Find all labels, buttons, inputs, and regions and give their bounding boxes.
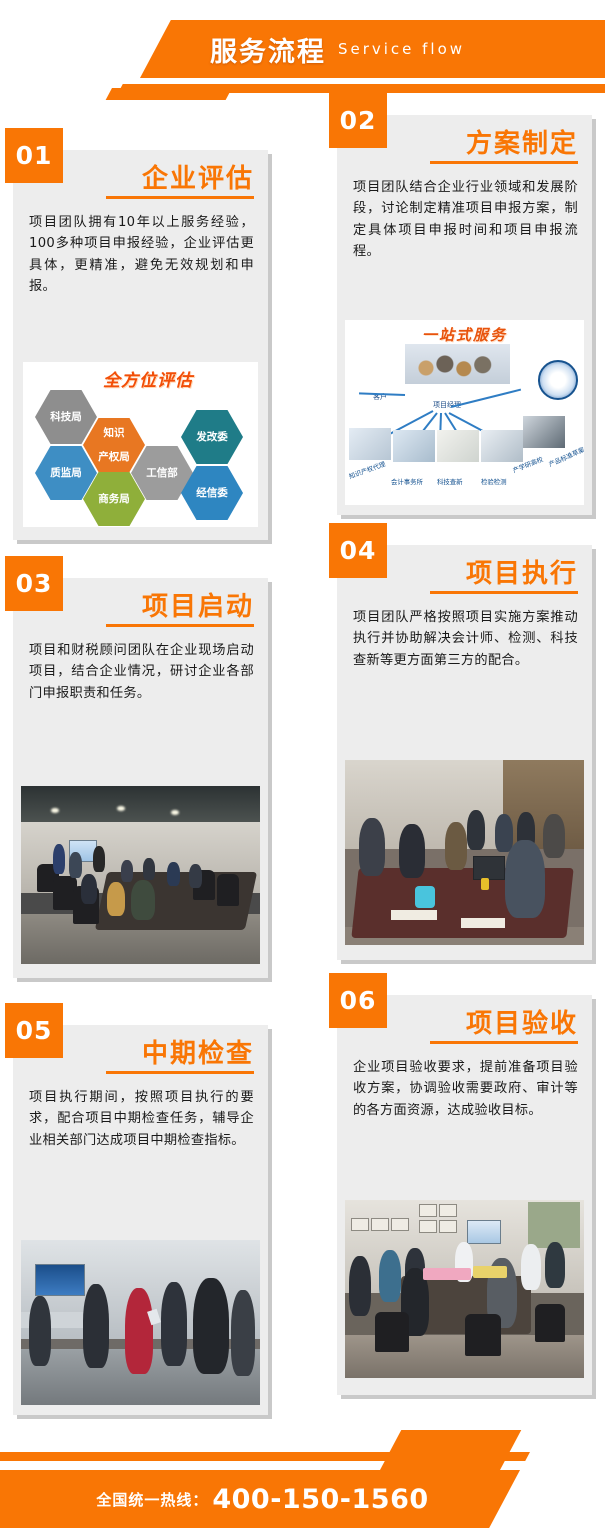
label-novelty-search: 科技查新 bbox=[437, 477, 463, 486]
step-title: 中期检查 bbox=[142, 1033, 254, 1070]
title-underline bbox=[430, 161, 578, 164]
step-card-02: 02 方案制定 项目团队结合企业行业领域和发展阶段，讨论制定精准项目申报方案，制… bbox=[337, 115, 592, 515]
label-ip-agency: 知识产权代理 bbox=[347, 459, 386, 481]
meeting-thumbnail bbox=[405, 344, 510, 384]
header-title-group: 服务流程 Service flow bbox=[0, 20, 605, 78]
step-card-03: 03 项目启动 项目和财税顾问团队在企业现场启动项目，结合企业情况，研讨企业各部… bbox=[13, 578, 268, 978]
step-title: 项目启动 bbox=[142, 586, 254, 623]
step-number-badge: 05 bbox=[5, 1003, 63, 1058]
page-title: 服务流程 bbox=[210, 30, 326, 69]
step-title: 方案制定 bbox=[466, 123, 578, 160]
title-underline bbox=[106, 1071, 254, 1074]
thumb-ip-agency bbox=[349, 428, 391, 460]
title-underline bbox=[106, 196, 254, 199]
certification-seal-icon bbox=[538, 360, 578, 400]
step-description: 项目团队结合企业行业领域和发展阶段，讨论制定精准项目申报方案，制定具体项目申报时… bbox=[353, 177, 578, 263]
step-description: 企业项目验收要求，提前准备项目验收方案，协调验收需要政府、审计等的各方面资源，达… bbox=[353, 1057, 578, 1121]
title-underline bbox=[430, 591, 578, 594]
page-subtitle: Service flow bbox=[338, 40, 465, 58]
hex-keji-ju: 科技局 bbox=[35, 390, 97, 444]
thumb-accounting bbox=[393, 430, 435, 462]
hex-diagram-title: 全方位评估 bbox=[103, 366, 193, 391]
label-testing: 检验检测 bbox=[481, 477, 507, 486]
meeting-room-photo bbox=[21, 786, 260, 964]
hex-fagai-wei: 发改委 bbox=[181, 410, 243, 464]
header-orange-tail bbox=[96, 88, 232, 100]
title-underline bbox=[430, 1041, 578, 1044]
workshop-meeting-photo bbox=[345, 760, 584, 945]
hexagon-assessment-diagram: 全方位评估 科技局 知识产权局 发改委 质监局 工信部 商务局 经信委 bbox=[23, 362, 258, 527]
one-stop-service-diagram: 一站式服务 客户 项目经理 知识产权代理 会计事务所 科技查新 检验检测 产学研… bbox=[345, 320, 584, 505]
stop-diagram-title: 一站式服务 bbox=[345, 324, 584, 345]
step-number-badge: 06 bbox=[329, 973, 387, 1028]
step-number-badge: 02 bbox=[329, 93, 387, 148]
infographic-page: 服务流程 Service flow 01 企业评估 项目团队拥有10年以上服务经… bbox=[0, 0, 605, 1538]
page-header: 服务流程 Service flow bbox=[0, 0, 605, 100]
step-description: 项目团队拥有10年以上服务经验，100多种项目申报经验，企业评估更具体，更精准，… bbox=[29, 212, 254, 298]
step-card-01: 01 企业评估 项目团队拥有10年以上服务经验，100多种项目申报经验，企业评估… bbox=[13, 150, 268, 540]
label-product-standard: 产品标准草案 bbox=[547, 445, 584, 469]
step-card-04: 04 项目执行 项目团队严格按照项目实施方案推动执行并协助解决会计师、检测、科技… bbox=[337, 545, 592, 960]
acceptance-meeting-photo bbox=[345, 1200, 584, 1378]
step-description: 项目团队严格按照项目实施方案推动执行并协助解决会计师、检测、科技查新等更方面第三… bbox=[353, 607, 578, 671]
hotline-label: 全国统一热线： bbox=[96, 1489, 208, 1510]
thumb-university bbox=[523, 416, 565, 448]
step-card-06: 06 项目验收 企业项目验收要求，提前准备项目验收方案，协调验收需要政府、审计等… bbox=[337, 995, 592, 1395]
step-card-05: 05 中期检查 项目执行期间，按照项目执行的要求，配合项目中期检查任务，辅导企业… bbox=[13, 1025, 268, 1415]
footer-hotline-group: 全国统一热线： 400-150-1560 bbox=[0, 1470, 605, 1528]
page-footer: 全国统一热线： 400-150-1560 bbox=[0, 1430, 605, 1538]
thumb-novelty-search bbox=[437, 430, 479, 462]
step-description: 项目执行期间，按照项目执行的要求，配合项目中期检查任务，辅导企业相关部门达成项目… bbox=[29, 1087, 254, 1151]
label-accounting: 会计事务所 bbox=[391, 477, 423, 486]
thumb-testing bbox=[481, 430, 523, 462]
hotline-number[interactable]: 400-150-1560 bbox=[212, 1484, 428, 1515]
step-number-badge: 03 bbox=[5, 556, 63, 611]
footer-orange-tail bbox=[380, 1430, 521, 1470]
title-underline bbox=[106, 624, 254, 627]
step-title: 项目执行 bbox=[466, 553, 578, 590]
step-number-badge: 04 bbox=[329, 523, 387, 578]
step-number-badge: 01 bbox=[5, 128, 63, 183]
office-visit-photo bbox=[21, 1240, 260, 1405]
arrow-right-1 bbox=[451, 389, 521, 408]
step-title: 项目验收 bbox=[466, 1003, 578, 1040]
step-description: 项目和财税顾问团队在企业现场启动项目，结合企业情况，研讨企业各部门申报职责和任务… bbox=[29, 640, 254, 704]
hex-zhishi-chanquan-ju: 知识产权局 bbox=[83, 418, 145, 472]
step-title: 企业评估 bbox=[142, 158, 254, 195]
